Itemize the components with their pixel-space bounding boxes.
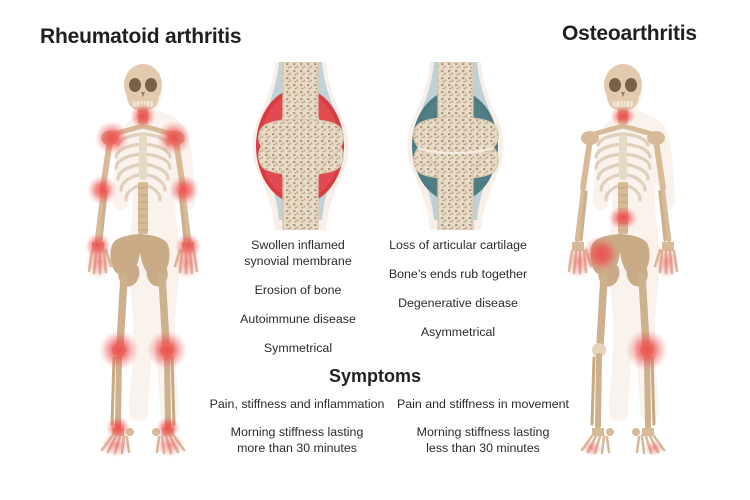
inflammation-left-foot (101, 433, 131, 457)
rheumatoid-arthritis-symptom-list: Pain, stiffness and inflammation Morning… (192, 396, 402, 456)
symptom-item: Morning stiffness lastingmore than 30 mi… (192, 424, 402, 456)
symptom-item: Pain and stiffness in movement (378, 396, 588, 412)
inflammation-right-toes (644, 440, 664, 456)
osteoarthritis-symptom-list: Pain and stiffness in movement Morning s… (378, 396, 588, 456)
inflammation-right-elbow (169, 175, 199, 205)
inflammation-left-knee (99, 330, 139, 370)
inflammation-neck (130, 103, 156, 129)
symptoms-heading: Symptoms (0, 366, 750, 387)
infographic-canvas: Rheumatoid arthritis Osteoarthritis (0, 0, 750, 500)
symptom-item: Pain, stiffness and inflammation (192, 396, 402, 412)
inflammation-right-knee (147, 330, 187, 370)
page-title-osteoarthritis: Osteoarthritis (562, 22, 697, 46)
symptom-item: Morning stiffness lastingless than 30 mi… (378, 424, 588, 456)
lumbar-spine (138, 182, 148, 234)
feature-item: Swollen inflamedsynovial membrane (208, 238, 388, 270)
feature-item: Asymmetrical (368, 325, 548, 341)
inflammation-neck (610, 106, 636, 126)
sternum (139, 134, 147, 180)
feature-item: Loss of articular cartilage (368, 238, 548, 254)
osteoarthritis-feature-list: Loss of articular cartilage Bone’s ends … (368, 238, 548, 341)
inflammation-right-foot (155, 433, 185, 457)
sternum (619, 134, 627, 180)
skull (604, 64, 642, 111)
feature-item: Degenerative disease (368, 296, 548, 312)
feature-item: Bone’s ends rub together (368, 267, 548, 283)
inflammation-left-hand (567, 245, 591, 279)
rheumatoid-arthritis-feature-list: Swollen inflamedsynovial membrane Erosio… (208, 238, 388, 356)
feature-item: Symmetrical (208, 341, 388, 357)
feature-item: Autoimmune disease (208, 312, 388, 328)
osteoarthritis-joint-diagram (398, 62, 513, 230)
inflammation-right-hand (174, 244, 200, 280)
inflammation-left-elbow (87, 175, 117, 205)
inflammation-left-hand (86, 244, 112, 280)
inflammation-lumbar-spine (608, 206, 638, 230)
rheumatoid-arthritis-joint-diagram (243, 62, 358, 230)
inflammation-right-hand (655, 245, 679, 279)
feature-item: Erosion of bone (208, 283, 388, 299)
inflammation-right-knee (626, 329, 668, 371)
page-title-rheumatoid-arthritis: Rheumatoid arthritis (40, 25, 241, 49)
inflammation-left-shoulder (95, 121, 129, 155)
inflammation-right-shoulder (157, 121, 191, 155)
